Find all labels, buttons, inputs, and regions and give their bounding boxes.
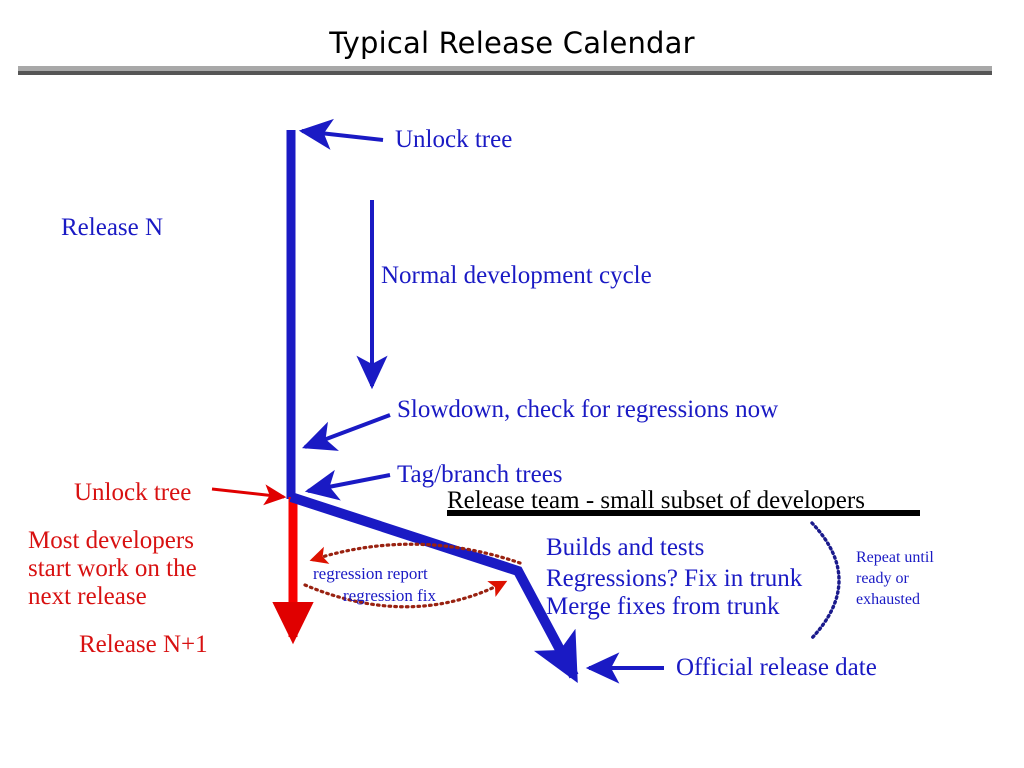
repeat-loop-arc	[812, 523, 839, 638]
unlock-tree-left-arrow	[212, 489, 284, 497]
label-tag-branch-trees: Tag/branch trees	[397, 461, 563, 489]
label-slowdown: Slowdown, check for regressions now	[397, 396, 778, 424]
tag-branch-trees-arrow	[308, 475, 390, 491]
label-most-developers: Most developers start work on the next r…	[28, 527, 197, 611]
label-release-n-plus-1: Release N+1	[79, 631, 208, 659]
label-regression-fix: regression fix	[343, 586, 436, 605]
label-release-n: Release N	[61, 214, 163, 242]
label-merge-fixes-from-trunk: Merge fixes from trunk	[546, 593, 780, 621]
label-official-release-date: Official release date	[676, 654, 877, 682]
label-regression-report: regression report	[313, 564, 428, 583]
slide-canvas: Typical Release Calendar	[0, 0, 1024, 768]
release-team-underline-bar	[447, 510, 920, 516]
slowdown-arrow	[305, 415, 390, 447]
label-unlock-tree-left: Unlock tree	[74, 479, 191, 507]
unlock-tree-top-arrow	[302, 131, 383, 140]
label-repeat-until: Repeat until ready or exhausted	[856, 547, 934, 610]
label-regressions-fix-in-trunk: Regressions? Fix in trunk	[546, 565, 802, 593]
label-builds-and-tests: Builds and tests	[546, 534, 704, 562]
label-unlock-tree-top: Unlock tree	[395, 126, 512, 154]
label-normal-development-cycle: Normal development cycle	[381, 262, 652, 290]
